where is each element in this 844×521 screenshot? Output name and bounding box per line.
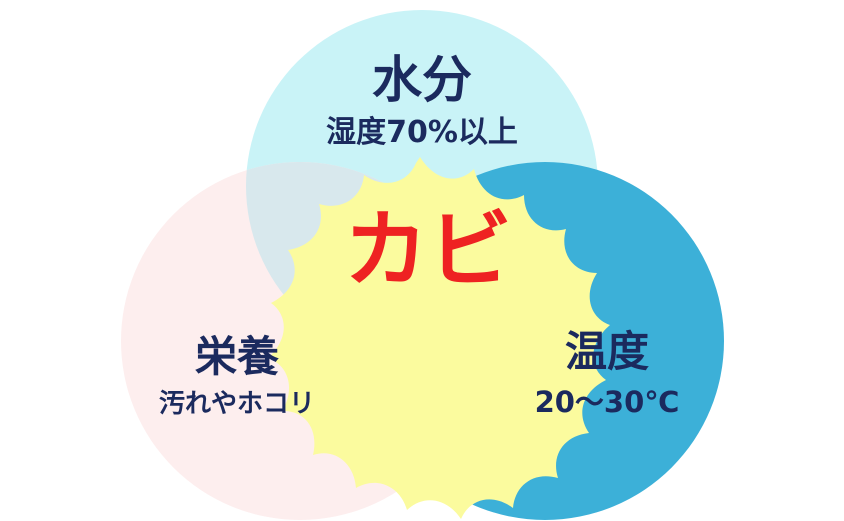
label-temperature-title: 温度 [565,327,649,376]
label-temperature-subtitle: 20〜30℃ [535,385,680,419]
label-nutrition-title: 栄養 [195,332,279,381]
venn-diagram-graphic: 水分 湿度70%以上 栄養 汚れやホコリ 温度 20〜30℃ カビ [0,0,844,521]
label-moisture-subtitle: 湿度70%以上 [326,115,518,150]
label-nutrition-subtitle: 汚れやホコリ [159,389,315,419]
label-moisture-title: 水分 [372,51,472,109]
venn-diagram-canvas: 水分 湿度70%以上 栄養 汚れやホコリ 温度 20〜30℃ カビ [0,0,844,521]
label-center-kabi: カビ [344,201,512,299]
